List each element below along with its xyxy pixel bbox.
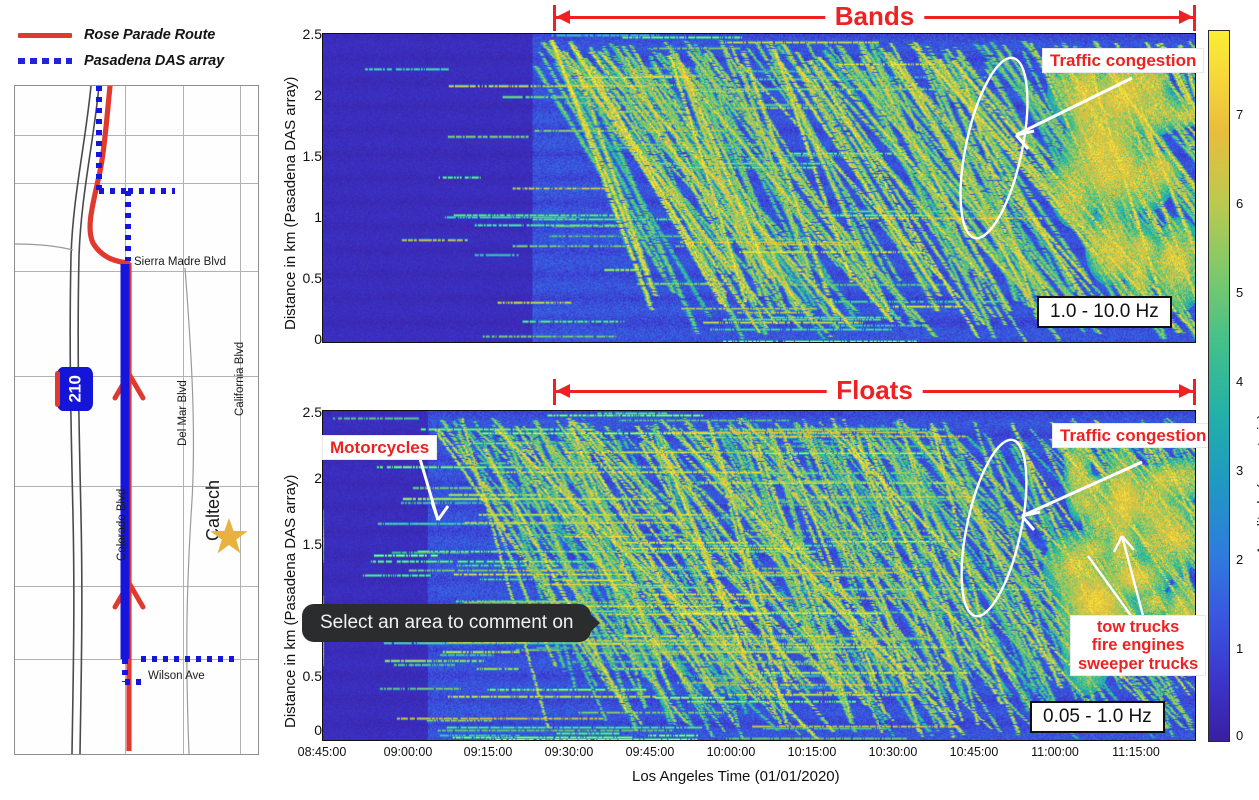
- y-axis-label-top: Distance in km (Pasadena DAS array): [282, 77, 299, 330]
- street-label-sierra-madre: Sierra Madre Blvd: [134, 256, 226, 268]
- colorbar-tick: 4: [1236, 374, 1243, 389]
- street-label-california: California Blvd: [234, 342, 246, 416]
- y-tick: 0.5: [288, 668, 322, 684]
- y-tick: 1.5: [288, 536, 322, 552]
- comment-tooltip-label: Select an area to comment on: [320, 612, 573, 633]
- x-axis-label: Los Angeles Time (01/01/2020): [632, 768, 840, 785]
- rose-parade-route-line: [15, 86, 258, 754]
- map-gridline: [15, 135, 258, 136]
- colorbar-tick: 3: [1236, 463, 1243, 478]
- colorbar-tick: 2: [1236, 552, 1243, 567]
- x-tick: 09:00:00: [368, 745, 448, 759]
- legend-item-parade-route: Rose Parade Route: [14, 22, 264, 48]
- comment-tooltip[interactable]: Select an area to comment on: [302, 604, 591, 642]
- colorbar-tick: 7: [1236, 107, 1243, 122]
- map-legend: Rose Parade Route Pasadena DAS array: [14, 22, 264, 74]
- x-tick: 11:00:00: [1015, 745, 1095, 759]
- floats-span-annotation: Floats: [553, 376, 1196, 408]
- colorbar-tick: 5: [1236, 285, 1243, 300]
- solid-red-line-icon: [14, 26, 76, 44]
- x-tick: 08:45:00: [282, 745, 362, 759]
- freq-label-top: 1.0 - 10.0 Hz: [1037, 296, 1172, 328]
- callout-motorcycles: Motorcycles: [322, 435, 437, 460]
- y-tick: 1: [288, 209, 322, 225]
- y-tick: 2: [288, 87, 322, 103]
- y-tick: 0: [288, 331, 322, 347]
- x-tick: 09:45:00: [610, 745, 690, 759]
- map-panel: Rose Parade Route Pasadena DAS array: [0, 0, 272, 800]
- street-label-colorado: Colorado Blvd: [116, 489, 128, 561]
- floats-panel[interactable]: [322, 410, 1196, 741]
- tooltip-pointer-icon: [589, 613, 600, 633]
- x-tick: 09:30:00: [529, 745, 609, 759]
- shield-stripe: [55, 371, 60, 407]
- y-tick: 2: [288, 470, 322, 486]
- x-tick: 10:45:00: [934, 745, 1014, 759]
- colorbar: [1208, 30, 1230, 742]
- legend-label-parade-route: Rose Parade Route: [76, 27, 215, 43]
- map-gridline: [15, 271, 258, 272]
- callout-traffic-congestion-bottom: Traffic congestion: [1052, 423, 1214, 448]
- map-gridline: [15, 376, 258, 377]
- x-tick: 09:15:00: [448, 745, 528, 759]
- y-tick: 2.5: [288, 404, 322, 420]
- floats-label: Floats: [826, 375, 923, 406]
- legend-label-das-array: Pasadena DAS array: [76, 53, 224, 69]
- callout-trucks: tow trucks fire engines sweeper trucks: [1070, 615, 1206, 676]
- freeway-shield-number: 210: [65, 376, 85, 403]
- map-gridline: [125, 86, 126, 754]
- street-label-wilson: Wilson Ave: [148, 670, 205, 682]
- map-frame[interactable]: Sierra Madre Blvd California Blvd Del Ma…: [14, 85, 259, 755]
- freq-label-bottom: 0.05 - 1.0 Hz: [1030, 701, 1165, 733]
- freeway-210-line: [15, 86, 258, 754]
- bands-span-annotation: Bands: [553, 2, 1196, 34]
- y-tick: 1.5: [288, 148, 322, 164]
- y-tick: 0.5: [288, 270, 322, 286]
- das-waterfall-figure: Bands Distance in km (Pasadena DAS array…: [272, 0, 1259, 800]
- legend-item-das-array: Pasadena DAS array: [14, 48, 264, 74]
- bands-label: Bands: [825, 1, 924, 32]
- x-tick: 10:15:00: [772, 745, 852, 759]
- callout-traffic-congestion-top: Traffic congestion: [1042, 48, 1204, 73]
- blue-dotted-line-icon: [14, 52, 76, 70]
- colorbar-tick: 0: [1236, 728, 1243, 743]
- colorbar-tick: 6: [1236, 196, 1243, 211]
- map-gridline: [240, 86, 241, 754]
- y-tick: 0: [288, 722, 322, 738]
- colorbar-tick: 1: [1236, 641, 1243, 656]
- x-tick: 10:30:00: [853, 745, 933, 759]
- street-label-del-mar: Del Mar Blvd: [177, 380, 189, 446]
- map-gridline: [15, 183, 258, 184]
- das-array-line: [15, 86, 258, 754]
- y-tick: 2.5: [288, 26, 322, 42]
- map-gridline: [15, 586, 258, 587]
- x-tick: 10:00:00: [691, 745, 771, 759]
- freeway-shield-210-icon: 210: [57, 367, 93, 411]
- map-gridline: [15, 659, 258, 660]
- x-tick: 11:15:00: [1096, 745, 1176, 759]
- colorbar-title: Amplitude (nanostrain): [1254, 414, 1259, 555]
